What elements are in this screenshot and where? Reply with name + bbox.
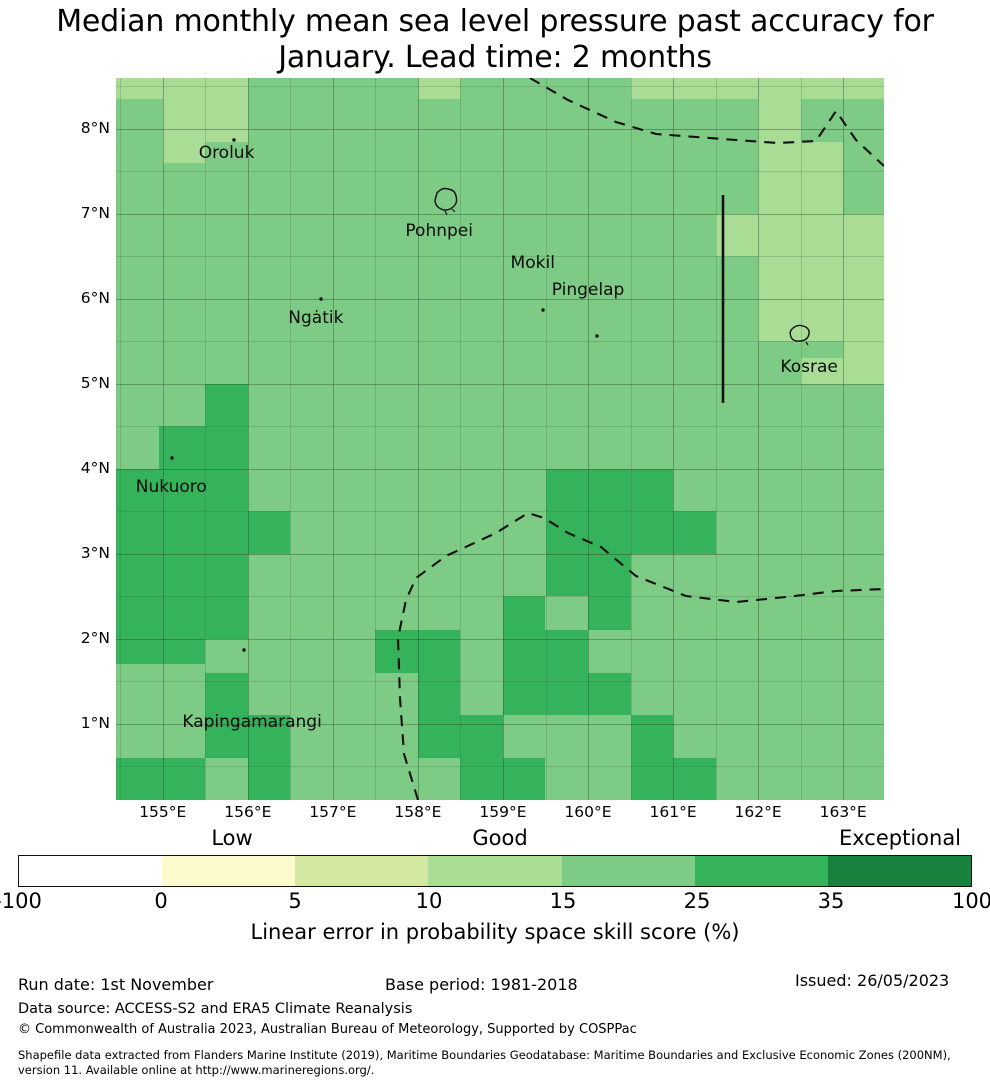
heatmap-cell	[205, 469, 248, 511]
heatmap-cell	[546, 469, 674, 511]
heatmap-cell	[801, 341, 844, 358]
place-label: Kosrae	[780, 357, 837, 377]
y-axis-ticks: 1°N2°N3°N4°N5°N6°N7°N8°N	[46, 78, 110, 800]
colorbar-tick-label: -100	[0, 889, 42, 913]
place-label: Pohnpei	[405, 221, 473, 241]
colorbar-tick-label: 5	[288, 889, 301, 913]
place-label: Ngȧtik	[288, 308, 343, 328]
run-date-text: Run date: 1st November	[18, 975, 213, 994]
heatmap-cell	[159, 426, 206, 468]
heatmap-cell	[418, 715, 503, 757]
colorbar-quality-label: Good	[472, 826, 527, 850]
heatmap-cell	[546, 511, 631, 596]
y-axis-tick-label: 1°N	[50, 714, 110, 732]
x-axis-tick-label: 156°E	[224, 803, 271, 821]
heatmap-cell	[116, 554, 205, 639]
x-axis-tick-label: 155°E	[139, 803, 186, 821]
heatmap-cell	[588, 673, 631, 715]
x-axis-tick-label: 161°E	[649, 803, 696, 821]
colorbar-tick-label: 0	[154, 889, 167, 913]
map-plot-area: OrolukPohnpeiMokilPingelapNgȧtikKosraeNu…	[116, 78, 884, 800]
heatmap-cell	[116, 639, 205, 664]
place-label: Mokil	[511, 253, 555, 273]
colorbar-swatch	[428, 856, 561, 886]
y-axis-tick-label: 8°N	[50, 119, 110, 137]
heatmap-cell	[418, 673, 461, 715]
colorbar-tick-label: 10	[416, 889, 443, 913]
heatmap-cell	[116, 758, 205, 800]
heatmap-cell	[631, 715, 674, 800]
heatmap-cell	[205, 673, 248, 715]
colorbar-tick-labels: -1000510152535100	[0, 889, 990, 915]
heatmap-cell	[673, 758, 716, 800]
colorbar-swatch	[828, 856, 971, 886]
heatmap-cell	[460, 758, 545, 800]
shapefile-attribution-text: Shapefile data extracted from Flanders M…	[18, 1048, 968, 1078]
heatmap-cell	[248, 511, 291, 553]
heatmap-cell	[460, 78, 630, 99]
colorbar-swatch	[19, 856, 162, 886]
heatmap-cell	[163, 78, 206, 99]
colorbar-tick-label: 100	[952, 889, 990, 913]
data-source-text: Data source: ACCESS-S2 and ERA5 Climate …	[18, 1001, 412, 1017]
heatmap-cell	[205, 78, 248, 99]
colorbar-swatch	[695, 856, 828, 886]
colorbar-quality-label: Low	[211, 826, 252, 850]
heatmap-cell	[588, 596, 631, 630]
x-axis-tick-label: 158°E	[394, 803, 441, 821]
page-title: Median monthly mean sea level pressure p…	[0, 4, 990, 76]
y-axis-tick-label: 3°N	[50, 544, 110, 562]
y-axis-tick-label: 6°N	[50, 289, 110, 307]
copyright-text: © Commonwealth of Australia 2023, Austra…	[18, 1022, 637, 1037]
colorbar-swatch	[162, 856, 295, 886]
heatmap-cell	[163, 99, 206, 141]
heatmap-cell	[631, 78, 716, 99]
place-label: Kapingamarangi	[182, 712, 321, 732]
colorbar-tick-label: 15	[550, 889, 577, 913]
colorbar-quality-label: Exceptional	[839, 826, 961, 850]
place-label: Pingelap	[552, 280, 625, 300]
x-axis-tick-label: 160°E	[564, 803, 611, 821]
colorbar-swatches	[18, 855, 972, 887]
colorbar-axis-label: Linear error in probability space skill …	[0, 920, 990, 944]
colorbar-swatch	[562, 856, 695, 886]
heatmap-cell	[205, 384, 248, 426]
heatmap-cell	[116, 78, 163, 99]
colorbar-tick-label: 35	[818, 889, 845, 913]
x-axis-tick-label: 159°E	[479, 803, 526, 821]
heatmap-cell	[503, 630, 588, 715]
heatmap-cell	[801, 142, 844, 214]
colorbar-swatch	[295, 856, 428, 886]
place-label: Nukuoro	[136, 477, 207, 497]
colorbar	[18, 855, 972, 887]
y-axis-tick-label: 7°N	[50, 204, 110, 222]
colorbar-tick-label: 25	[684, 889, 711, 913]
heatmap-cell	[205, 426, 248, 468]
x-axis-tick-label: 162°E	[735, 803, 782, 821]
x-axis-tick-label: 157°E	[309, 803, 356, 821]
heatmap-cell	[673, 511, 716, 553]
heatmap-cell-layer	[116, 78, 884, 800]
heatmap-cell	[205, 99, 248, 141]
y-axis-tick-label: 4°N	[50, 459, 110, 477]
heatmap-cell	[758, 99, 801, 214]
x-axis-tick-label: 163°E	[820, 803, 867, 821]
heatmap-cell	[418, 78, 461, 99]
heatmap-cell	[503, 596, 546, 630]
heatmap-cell	[375, 630, 460, 672]
heatmap-cell	[205, 511, 248, 553]
y-axis-tick-label: 2°N	[50, 629, 110, 647]
colorbar-qualitative-labels: LowGoodExceptional	[0, 826, 990, 852]
heatmap-cell	[248, 758, 291, 800]
y-axis-tick-label: 5°N	[50, 374, 110, 392]
issued-date-text: Issued: 26/05/2023	[795, 971, 949, 990]
heatmap-cell	[716, 78, 884, 99]
heatmap-cell	[205, 554, 248, 639]
place-label: Oroluk	[199, 143, 255, 163]
heatmap-cell	[248, 78, 418, 99]
base-period-text: Base period: 1981-2018	[385, 975, 578, 994]
heatmap-cell	[716, 214, 759, 256]
